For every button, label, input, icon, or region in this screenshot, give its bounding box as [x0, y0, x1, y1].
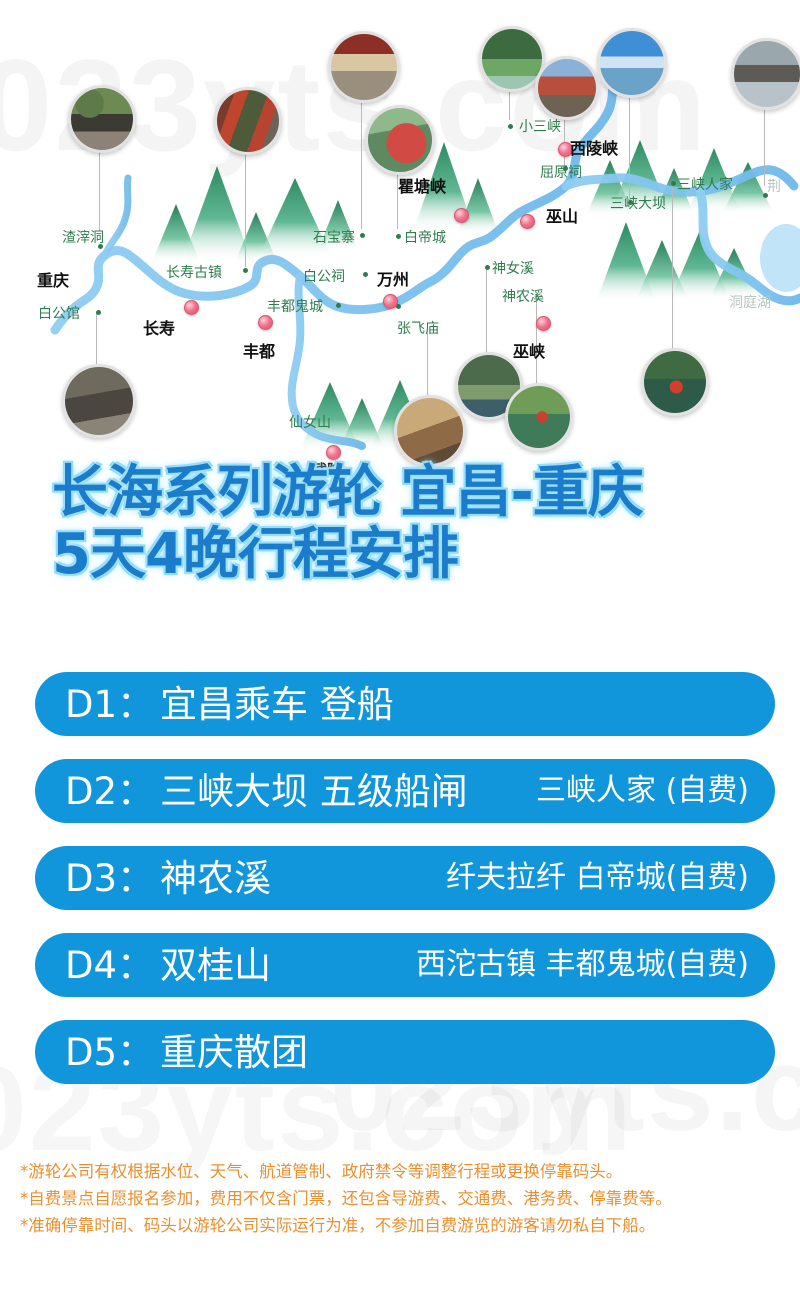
city-marker-wanzhou: [383, 294, 398, 309]
itinerary-row-d3[interactable]: D3： 神农溪 纤夫拉纤 白帝城(自费): [35, 846, 775, 910]
leader-line: [672, 188, 673, 350]
photo-bubble-baidicheng: [365, 105, 435, 175]
map-label-shibaozhai: 石宝寨: [313, 231, 355, 245]
city-marker-qutangxia: [454, 208, 469, 223]
footnote-3: *准确停靠时间、码头以游轮公司实际运行为准，不参加自费游览的游客请勿私自下船。: [20, 1212, 790, 1239]
map-label-xiaosanxia: 小三峡: [519, 120, 561, 134]
site-dot: [396, 234, 401, 239]
map-label-xilingxia: 西陵峡: [570, 141, 618, 157]
map-label-qutangxia: 瞿塘峡: [398, 179, 446, 195]
map-label-wushan: 巫山: [546, 209, 578, 225]
site-dot: [96, 310, 101, 315]
leader-line: [361, 97, 362, 229]
itinerary-row-d5[interactable]: D5： 重庆散团: [35, 1020, 775, 1084]
map-label-shennvxi: 神女溪: [492, 262, 534, 276]
day-extra-text: 纤夫拉纤 白帝城(自费): [446, 863, 749, 893]
site-dot: [671, 181, 676, 186]
photo-bubble-changshou-guzhen: [214, 87, 282, 155]
leader-line: [245, 149, 246, 267]
day-extra-text: 三峡人家 (自费): [536, 776, 749, 806]
photo-bubble-shibaozhai: [328, 31, 400, 103]
poster-root: 023yts.com 023yts.com 023yts.com: [0, 0, 800, 1297]
day-main-text: 宜昌乘车 登船: [160, 686, 394, 723]
map-label-zhangfeimiao: 张飞庙: [397, 322, 439, 336]
day-code: D1：: [65, 686, 154, 723]
photo-bubble-sanxia-renjia: [641, 348, 709, 416]
map-label-fengdu: 丰都: [243, 344, 275, 360]
map-label-sanxia-daba: 三峡大坝: [610, 197, 666, 211]
leader-line: [536, 294, 537, 384]
footnote-1: *游轮公司有权根据水位、天气、航道管制、政府禁令等调整行程或更换停靠码头。: [20, 1158, 790, 1185]
map-label-baigongguan: 白公馆: [38, 307, 80, 321]
day-main-text: 重庆散团: [160, 1034, 308, 1071]
site-dot: [360, 233, 365, 238]
day-main-text: 三峡大坝 五级船闸: [160, 773, 468, 810]
photo-bubble-shennongxi: [505, 383, 573, 451]
map-label-quyuanci: 屈原祠: [540, 166, 582, 180]
day-main-text: 神农溪: [160, 860, 271, 897]
photo-bubble-wulong: [394, 395, 466, 467]
day-extra-text: 西沱古镇 丰都鬼城(自费): [416, 950, 749, 980]
map-label-changshou: 长寿: [143, 321, 175, 337]
itinerary-list: D1： 宜昌乘车 登船 D2： 三峡大坝 五级船闸 三峡人家 (自费) D3： …: [35, 672, 775, 1107]
day-main-text: 双桂山: [160, 947, 271, 984]
photo-bubble-xilingxia: [731, 38, 800, 110]
leader-line: [629, 92, 630, 198]
itinerary-row-d4[interactable]: D4： 双桂山 西沱古镇 丰都鬼城(自费): [35, 933, 775, 997]
site-dot: [243, 268, 248, 273]
city-marker-fengdu: [258, 315, 273, 330]
map-label-baidicheng: 白帝城: [404, 231, 446, 245]
footnote-2: *自费景点自愿报名参加，费用不仅含门票，还包含导游费、交通费、港务费、停靠费等。: [20, 1185, 790, 1212]
day-code: D5：: [65, 1034, 154, 1071]
map-label-fengdu-guicheng: 丰都鬼城: [267, 300, 323, 314]
route-map: 重庆 长寿 丰都 万州 瞿塘峡 巫山 巫峡 西陵峡 渣滓洞 白公馆 长寿古镇 丰…: [0, 0, 800, 470]
map-label-wuxia: 巫峡: [513, 344, 545, 360]
map-label-baigongci: 白公祠: [303, 270, 345, 284]
itinerary-row-d1[interactable]: D1： 宜昌乘车 登船: [35, 672, 775, 736]
map-label-zhazidong: 渣滓洞: [62, 231, 104, 245]
site-dot: [363, 272, 368, 277]
map-label-xiannvshan: 仙女山: [289, 416, 331, 430]
day-code: D4：: [65, 947, 154, 984]
map-label-chongqing: 重庆: [37, 273, 69, 289]
itinerary-row-d2[interactable]: D2： 三峡大坝 五级船闸 三峡人家 (自费): [35, 759, 775, 823]
leader-line: [427, 330, 428, 396]
site-dot: [508, 124, 513, 129]
headline-line-2: 5天4晚行程安排: [0, 524, 800, 586]
leader-line: [99, 147, 100, 231]
map-label-changshou-guzhen: 长寿古镇: [166, 266, 222, 280]
headline-line-1: 长海系列游轮 宜昌-重庆: [0, 462, 800, 524]
city-marker-wushan: [520, 214, 535, 229]
leader-line: [564, 114, 565, 166]
day-code: D3：: [65, 860, 154, 897]
city-marker-wuxia: [536, 316, 551, 331]
map-label-dongtinghu: 洞庭湖: [729, 296, 771, 310]
photo-bubble-sanxia-daba: [597, 28, 667, 98]
photo-bubble-baigongguan: [62, 364, 136, 438]
city-marker-changshou: [184, 300, 199, 315]
leader-line: [486, 266, 487, 354]
city-marker-wulong: [326, 445, 341, 460]
photo-bubble-zhazidong: [68, 85, 136, 153]
map-label-sanxia-renjia: 三峡人家: [677, 178, 733, 192]
footnote-block: *游轮公司有权根据水位、天气、航道管制、政府禁令等调整行程或更换停靠码头。 *自…: [20, 1158, 790, 1239]
leader-line: [764, 104, 765, 186]
day-code: D2：: [65, 773, 154, 810]
headline-block: 长海系列游轮 宜昌-重庆 5天4晚行程安排: [0, 462, 800, 586]
map-label-shennongxi: 神农溪: [502, 290, 544, 304]
site-dot: [485, 265, 490, 270]
leader-line: [96, 312, 97, 364]
site-dot: [336, 303, 341, 308]
map-label-jing: 荆: [767, 180, 781, 194]
map-label-wanzhou: 万州: [377, 272, 409, 288]
photo-bubble-quyuanci: [535, 56, 599, 120]
